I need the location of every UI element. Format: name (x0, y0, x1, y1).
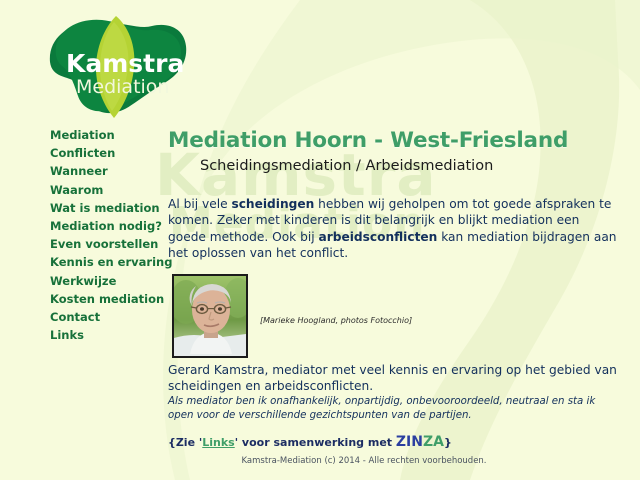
bio-note-text: Als mediator ben ik onafhankelijk, onpar… (168, 395, 620, 422)
portrait-image (174, 276, 246, 356)
portrait-photo (172, 274, 248, 358)
intro-text-1: Al bij vele (168, 197, 231, 211)
sidebar-item-conflicten[interactable]: Conflicten (0, 144, 165, 162)
partner-links-link[interactable]: Links (202, 436, 234, 449)
photo-block: [Marieke Hoogland, photos Fotocchio] (168, 274, 620, 360)
sidebar-item-mediation-nodig[interactable]: Mediation nodig? (0, 217, 165, 235)
sidebar-item-wat-is-mediation[interactable]: Wat is mediation (0, 199, 165, 217)
page-title: Mediation Hoorn - West-Friesland (168, 128, 620, 154)
photo-credit: [Marieke Hoogland, photos Fotocchio] (260, 316, 412, 325)
partner-prefix: {Zie ' (168, 436, 202, 449)
page-subtitle: Scheidingsmediation / Arbeidsmediation (168, 157, 620, 175)
leaf-logo-icon (26, 6, 206, 124)
zinza-brand-blue: ZIN (396, 434, 423, 450)
sidebar-item-waarom[interactable]: Waarom (0, 181, 165, 199)
sidebar-item-wanneer[interactable]: Wanneer (0, 162, 165, 180)
main-content: Mediation Hoorn - West-Friesland Scheidi… (168, 128, 620, 466)
page-root: Kamstra Mediation Kamstra Mediation Medi… (0, 0, 640, 480)
intro-bold-scheidingen: scheidingen (231, 197, 314, 211)
partner-suffix: } (444, 436, 452, 449)
sidebar-item-even-voorstellen[interactable]: Even voorstellen (0, 235, 165, 253)
sidebar-navigation: Mediation Conflicten Wanneer Waarom Wat … (0, 126, 165, 344)
partner-middle: ' voor samenwerking met (235, 436, 396, 449)
sidebar-item-links[interactable]: Links (0, 326, 165, 344)
sidebar-item-kennis-en-ervaring[interactable]: Kennis en ervaring (0, 253, 165, 271)
intro-paragraph: Al bij vele scheidingen hebben wij gehol… (168, 196, 620, 262)
intro-bold-arbeidsconflicten: arbeidsconflicten (318, 230, 437, 244)
partner-line: {Zie 'Links' voor samenwerking met ZINZA… (168, 434, 620, 450)
bio-text: Gerard Kamstra, mediator met veel kennis… (168, 362, 620, 395)
sidebar-item-werkwijze[interactable]: Werkwijze (0, 272, 165, 290)
sidebar-item-kosten-mediation[interactable]: Kosten mediation (0, 290, 165, 308)
zinza-brand-green: ZA (423, 434, 444, 450)
sidebar-item-contact[interactable]: Contact (0, 308, 165, 326)
sidebar-item-mediation[interactable]: Mediation (0, 126, 165, 144)
site-logo[interactable]: Kamstra Mediation (26, 6, 206, 124)
copyright-text: Kamstra-Mediation (c) 2014 - Alle rechte… (168, 456, 620, 466)
